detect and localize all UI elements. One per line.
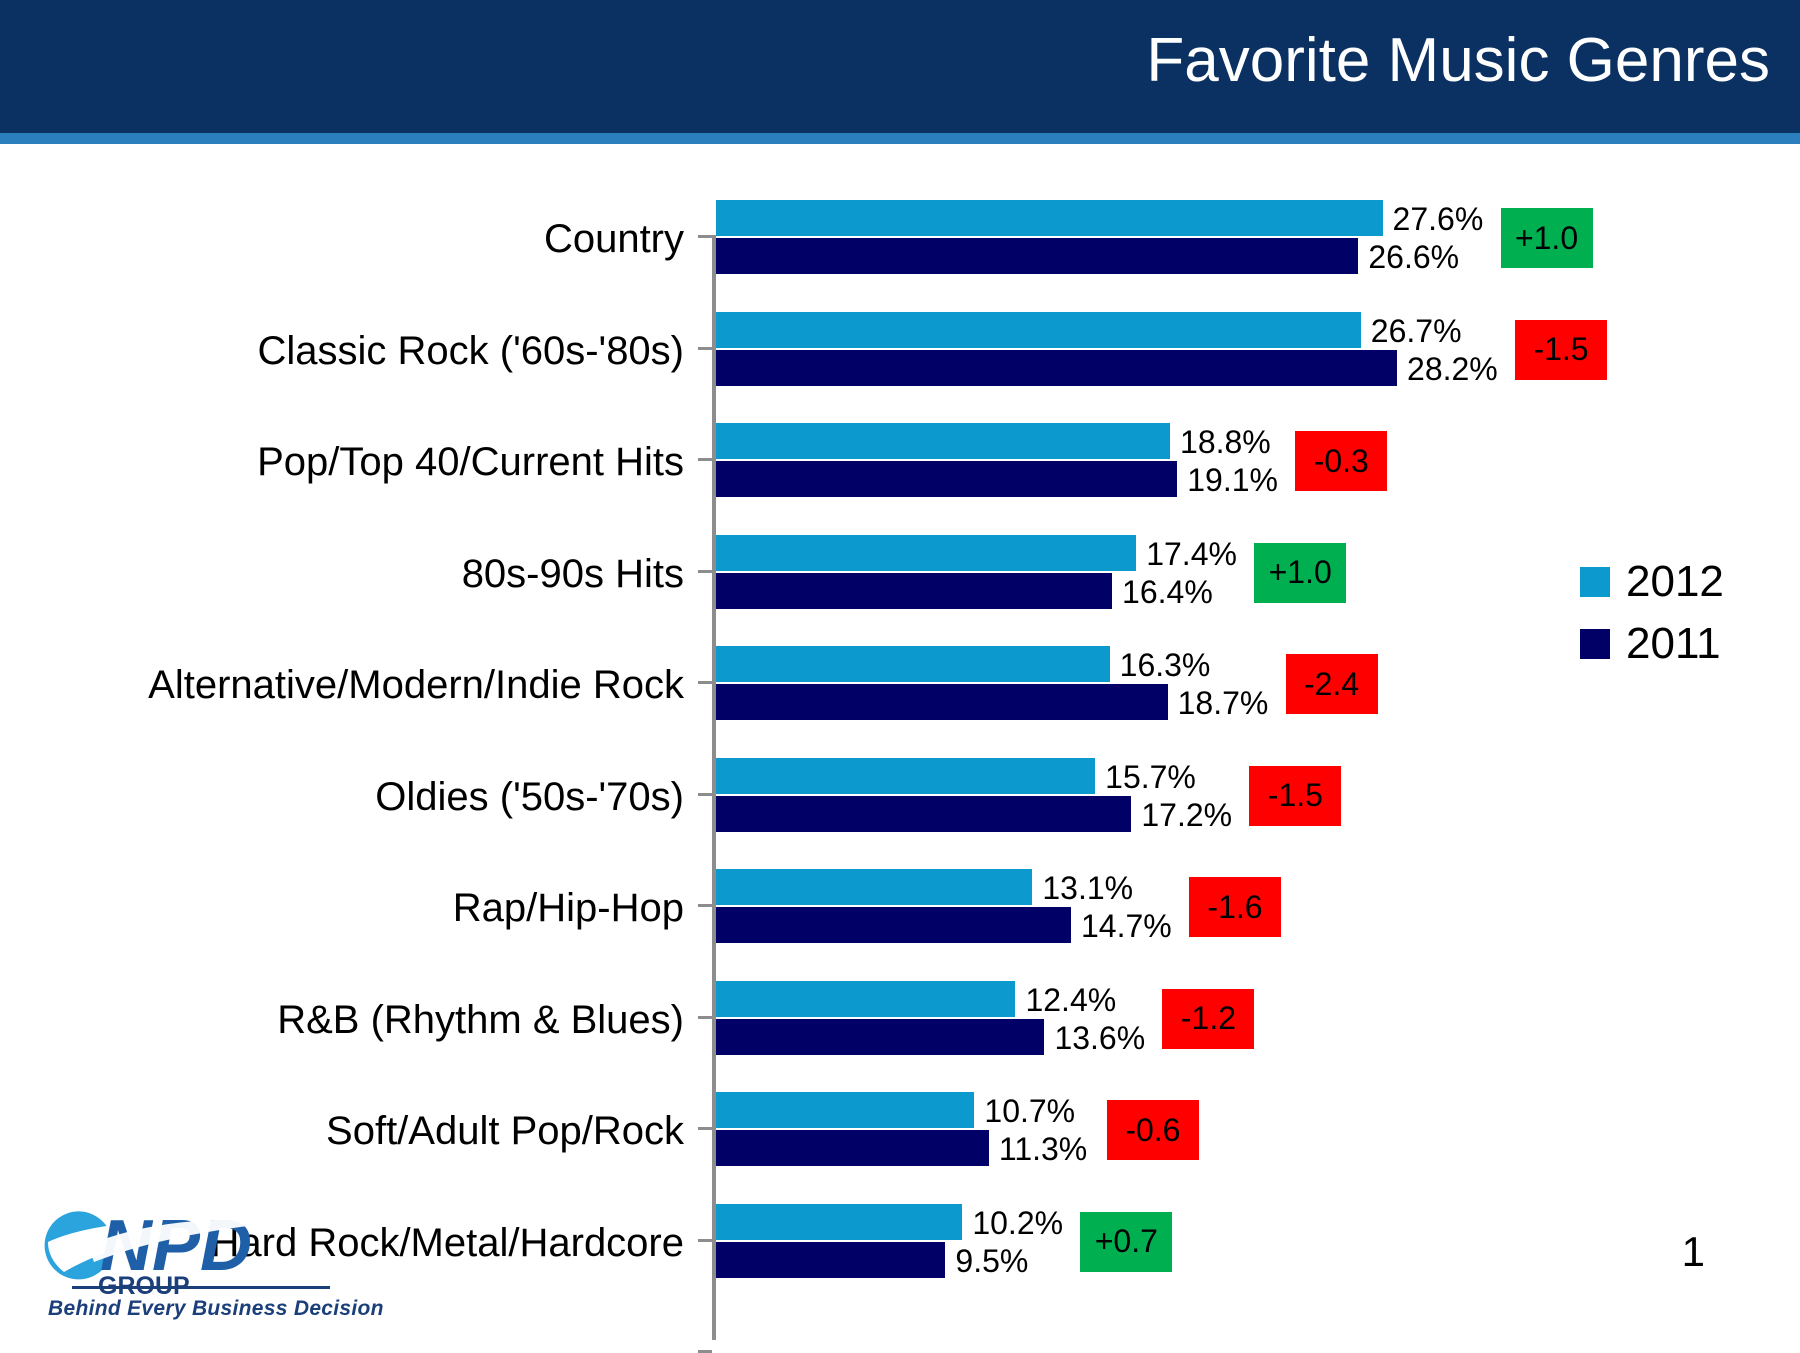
chart-row: Soft/Adult Pop/Rock10.7%11.3%-0.6 (0, 1086, 1800, 1196)
bar-value-2011: 17.2% (1141, 799, 1232, 831)
bar-value-2012: 10.7% (984, 1095, 1075, 1127)
bar-2012 (716, 981, 1015, 1017)
bar-2012 (716, 646, 1110, 682)
chart-row: Oldies ('50s-'70s)15.7%17.2%-1.5 (0, 752, 1800, 862)
legend-item: 2012 (1580, 560, 1724, 604)
delta-badge: -0.3 (1295, 431, 1387, 491)
bar-2012 (716, 535, 1136, 571)
chart-legend: 20122011 (1580, 560, 1724, 684)
logo-divider (72, 1286, 330, 1289)
category-label: R&B (Rhythm & Blues) (0, 999, 684, 1041)
legend-item: 2011 (1580, 622, 1724, 666)
category-label: Country (0, 218, 684, 260)
bar-chart: Country27.6%26.6%+1.0Classic Rock ('60s-… (0, 144, 1800, 1350)
bar-value-2012: 26.7% (1371, 315, 1462, 347)
delta-badge: -1.5 (1515, 320, 1607, 380)
category-label: Soft/Adult Pop/Rock (0, 1110, 684, 1152)
bar-2011 (716, 573, 1112, 609)
bar-2012 (716, 200, 1383, 236)
chart-row: Classic Rock ('60s-'80s)26.7%28.2%-1.5 (0, 306, 1800, 416)
bar-2011 (716, 907, 1071, 943)
chart-row: R&B (Rhythm & Blues)12.4%13.6%-1.2 (0, 975, 1800, 1085)
bar-value-2012: 15.7% (1105, 761, 1196, 793)
bar-value-2011: 26.6% (1368, 241, 1459, 273)
bar-2011 (716, 684, 1168, 720)
delta-badge: +1.0 (1501, 208, 1593, 268)
bar-value-2011: 11.3% (999, 1133, 1087, 1165)
bar-value-2012: 18.8% (1180, 426, 1271, 458)
category-label: Classic Rock ('60s-'80s) (0, 330, 684, 372)
bar-2011 (716, 1130, 989, 1166)
delta-badge: -1.2 (1162, 989, 1254, 1049)
category-label: Oldies ('50s-'70s) (0, 776, 684, 818)
bar-2011 (716, 1019, 1044, 1055)
bar-value-2012: 27.6% (1393, 203, 1484, 235)
legend-label: 2012 (1626, 560, 1724, 604)
legend-label: 2011 (1626, 622, 1721, 666)
bar-value-2011: 14.7% (1081, 910, 1172, 942)
category-label: Rap/Hip-Hop (0, 887, 684, 929)
bar-2011 (716, 350, 1397, 386)
delta-badge: -0.6 (1107, 1100, 1199, 1160)
bar-2011 (716, 1242, 945, 1278)
bar-2011 (716, 796, 1131, 832)
delta-badge: +1.0 (1254, 543, 1346, 603)
header-accent-stripe (0, 133, 1800, 144)
delta-badge: -1.6 (1189, 877, 1281, 937)
bar-value-2011: 18.7% (1178, 687, 1269, 719)
bar-value-2011: 16.4% (1122, 576, 1213, 608)
delta-badge: -2.4 (1286, 654, 1378, 714)
chart-row: Rap/Hip-Hop13.1%14.7%-1.6 (0, 863, 1800, 973)
bar-2012 (716, 869, 1032, 905)
delta-badge: -1.5 (1249, 766, 1341, 826)
bar-2011 (716, 461, 1177, 497)
bar-value-2012: 10.2% (972, 1207, 1063, 1239)
page-number: 1 (1682, 1228, 1705, 1276)
page-title: Favorite Music Genres (1146, 30, 1770, 92)
category-label: 80s-90s Hits (0, 553, 684, 595)
bar-value-2012: 13.1% (1042, 872, 1133, 904)
bar-value-2012: 12.4% (1025, 984, 1116, 1016)
bar-2012 (716, 1092, 974, 1128)
chart-row: Pop/Top 40/Current Hits18.8%19.1%-0.3 (0, 417, 1800, 527)
chart-row: 80s-90s Hits17.4%16.4%+1.0 (0, 529, 1800, 639)
legend-swatch-icon (1580, 567, 1610, 597)
bar-2012 (716, 312, 1361, 348)
chart-row: Country27.6%26.6%+1.0 (0, 194, 1800, 304)
bar-value-2011: 13.6% (1054, 1022, 1145, 1054)
category-label: Pop/Top 40/Current Hits (0, 441, 684, 483)
bar-2012 (716, 1204, 962, 1240)
bar-2011 (716, 238, 1358, 274)
bar-2012 (716, 758, 1095, 794)
logo-tagline: Behind Every Business Decision (48, 1297, 384, 1321)
bar-value-2012: 16.3% (1120, 649, 1211, 681)
delta-badge: +0.7 (1080, 1212, 1172, 1272)
bar-value-2011: 9.5% (955, 1245, 1028, 1277)
bar-value-2012: 17.4% (1146, 538, 1237, 570)
bar-2012 (716, 423, 1170, 459)
category-label: Alternative/Modern/Indie Rock (0, 664, 684, 706)
chart-row: Alternative/Modern/Indie Rock16.3%18.7%-… (0, 640, 1800, 750)
legend-swatch-icon (1580, 629, 1610, 659)
bar-value-2011: 28.2% (1407, 353, 1498, 385)
bar-value-2011: 19.1% (1187, 464, 1278, 496)
